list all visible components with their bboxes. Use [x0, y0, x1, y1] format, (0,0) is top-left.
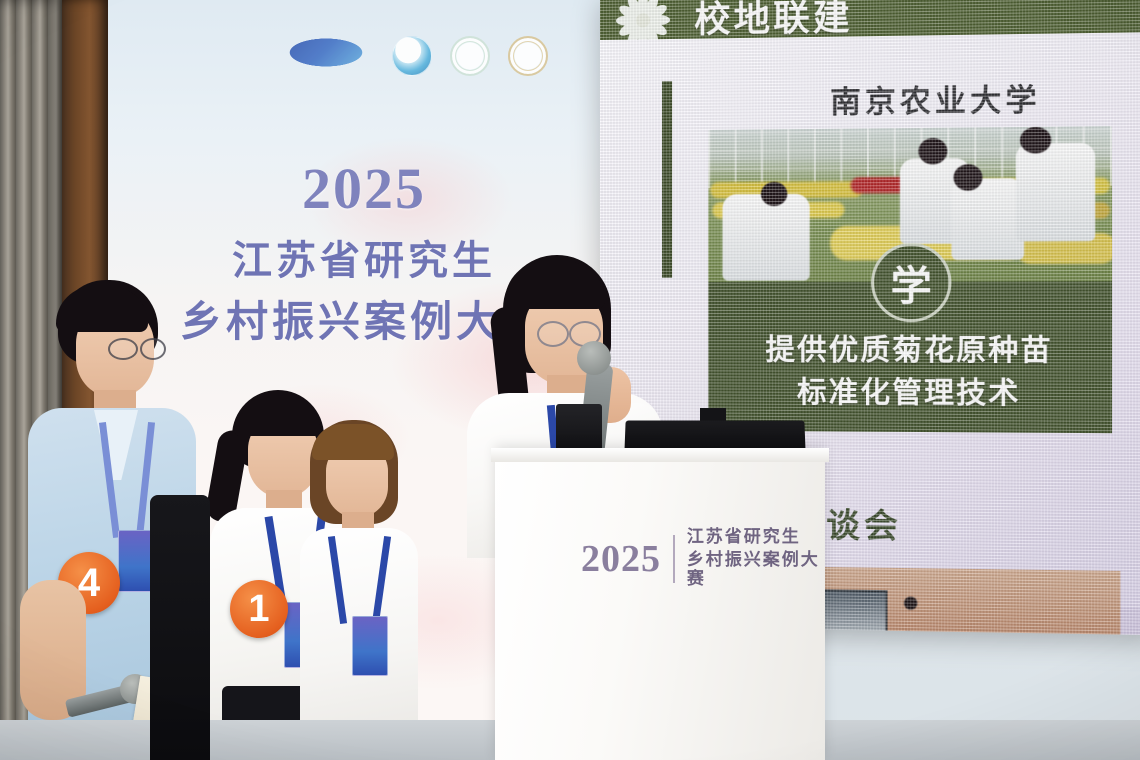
podium-year: 2025 [581, 537, 661, 581]
university-seal-logo-1 [450, 36, 490, 76]
meeting-room-photo [779, 566, 1120, 635]
monitor [556, 404, 602, 452]
black-chair [150, 495, 210, 760]
slide-circle-badge: 学 [871, 243, 951, 322]
university-seal-logo-2 [508, 36, 548, 76]
podium-divider [673, 535, 675, 583]
id-badge-card [352, 616, 388, 676]
podium-top-surface [491, 448, 829, 462]
sponsor-wordmark-logo [278, 34, 374, 78]
podium-line-1: 江苏省研究生 [687, 528, 825, 548]
glasses-icon [537, 321, 569, 347]
podium-line-2: 乡村振兴案例大赛 [687, 551, 825, 590]
slide-green-panel-line-2: 标准化管理技术 [708, 368, 1112, 412]
id-badge-card [118, 530, 154, 592]
glasses-icon [108, 338, 138, 360]
slide-accent-bar [662, 81, 672, 278]
talent-circle-logo [392, 36, 432, 76]
slide-university-name: 南京农业大学 [751, 74, 1123, 123]
slide-green-panel-line-1: 提供优质菊花原种苗 [708, 326, 1112, 369]
photo-scene: 2025 江苏省研究生 乡村振兴案例大赛 校地联建 南京农业大学 [0, 0, 1140, 760]
number-badge: 1 [230, 580, 288, 638]
podium-title-lines: 江苏省研究生 乡村振兴案例大赛 [687, 528, 825, 590]
podium: 2025 江苏省研究生 乡村振兴案例大赛 [495, 448, 825, 760]
podium-logo: 2025 江苏省研究生 乡村振兴案例大赛 [581, 528, 825, 590]
backdrop-logo-row [278, 28, 558, 84]
backdrop-year: 2025 [108, 155, 620, 222]
participant-third [300, 420, 420, 760]
